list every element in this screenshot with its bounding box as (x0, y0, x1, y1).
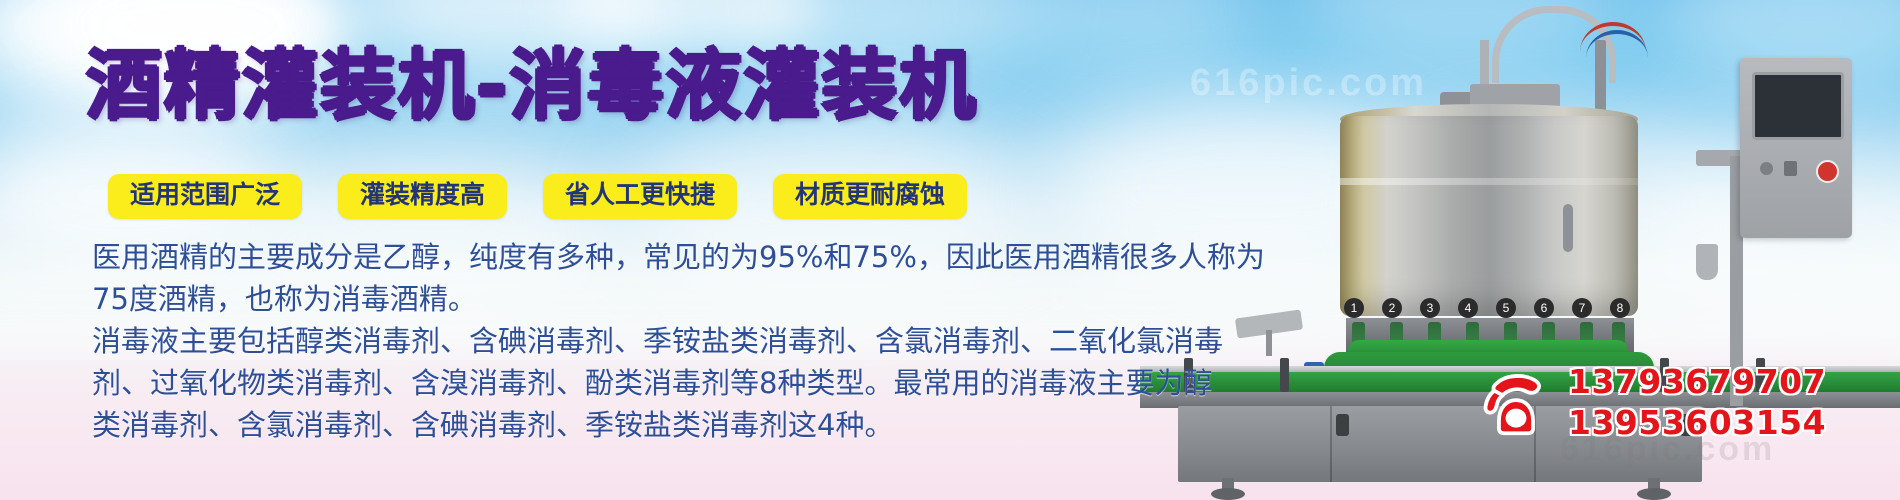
nozzle-number: 4 (1458, 298, 1478, 318)
machine-emergency-stop-button (1816, 160, 1839, 183)
feature-badge-list: 适用范围广泛 灌装精度高 省人工更快捷 材质更耐腐蚀 (108, 174, 967, 219)
machine-cabinet-seam (1330, 406, 1332, 482)
machine-panel-knob (1784, 161, 1797, 176)
machine-drum (1340, 116, 1638, 316)
description-line: 消毒液主要包括醇类消毒剂、含碘消毒剂、季铵盐类消毒剂、含氯消毒剂、二氧化氯消毒 (92, 320, 1182, 362)
banner-content: 酒精灌装机-消毒液灌装机 适用范围广泛 灌装精度高 省人工更快捷 材质更耐腐蚀 … (0, 0, 1180, 500)
nozzle-number: 8 (1610, 298, 1630, 318)
description-text: 医用酒精的主要成分是乙醇，纯度有多种，常见的为95%和75%，因此医用酒精很多人… (92, 236, 1182, 446)
description-line: 类消毒剂、含氯消毒剂、含碘消毒剂、季铵盐类消毒剂这4种。 (92, 404, 1182, 446)
nozzle-number: 5 (1496, 298, 1516, 318)
phone-number-list: 13793679707 13953603154 (1568, 362, 1826, 442)
machine-panel-button (1760, 162, 1773, 175)
phone-number-secondary[interactable]: 13953603154 (1568, 403, 1826, 443)
promo-banner: 1 2 3 4 5 6 7 8 (0, 0, 1900, 500)
description-line: 剂、过氧化物类消毒剂、含溴消毒剂、酚类消毒剂等8种类型。最常用的消毒液主要为醇 (92, 362, 1182, 404)
machine-foot-pad (1637, 488, 1671, 500)
contact-block[interactable]: 13793679707 13953603154 (1478, 362, 1826, 442)
phone-number-primary[interactable]: 13793679707 (1568, 362, 1826, 402)
machine-foot-pad (1211, 488, 1245, 500)
machine-air-regulator (1696, 244, 1718, 280)
machine-sight-glass (1563, 204, 1573, 252)
machine-panel-screen (1752, 72, 1844, 140)
feature-badge-4: 材质更耐腐蚀 (773, 174, 967, 219)
feature-badge-1: 适用范围广泛 (108, 174, 302, 219)
feature-badge-2: 灌装精度高 (338, 174, 507, 219)
nozzle-number: 7 (1572, 298, 1592, 318)
description-line: 医用酒精的主要成分是乙醇，纯度有多种，常见的为95%和75%，因此医用酒精很多人… (92, 236, 1182, 278)
page-title: 酒精灌装机-消毒液灌装机 (86, 48, 978, 124)
machine-gantry-post (1595, 40, 1606, 118)
description-line: 75度酒精，也称为消毒酒精。 (92, 278, 1182, 320)
nozzle-number: 3 (1420, 298, 1440, 318)
machine-drum-highlight (1340, 178, 1638, 185)
nozzle-number: 6 (1534, 298, 1554, 318)
machine-guard-post (1266, 330, 1272, 356)
telephone-icon (1478, 366, 1554, 438)
nozzle-number: 2 (1382, 298, 1402, 318)
nozzle-number: 1 (1344, 298, 1364, 318)
machine-cabinet-latch (1336, 414, 1349, 436)
feature-badge-3: 省人工更快捷 (543, 174, 737, 219)
machine-rail-post (1280, 358, 1289, 392)
